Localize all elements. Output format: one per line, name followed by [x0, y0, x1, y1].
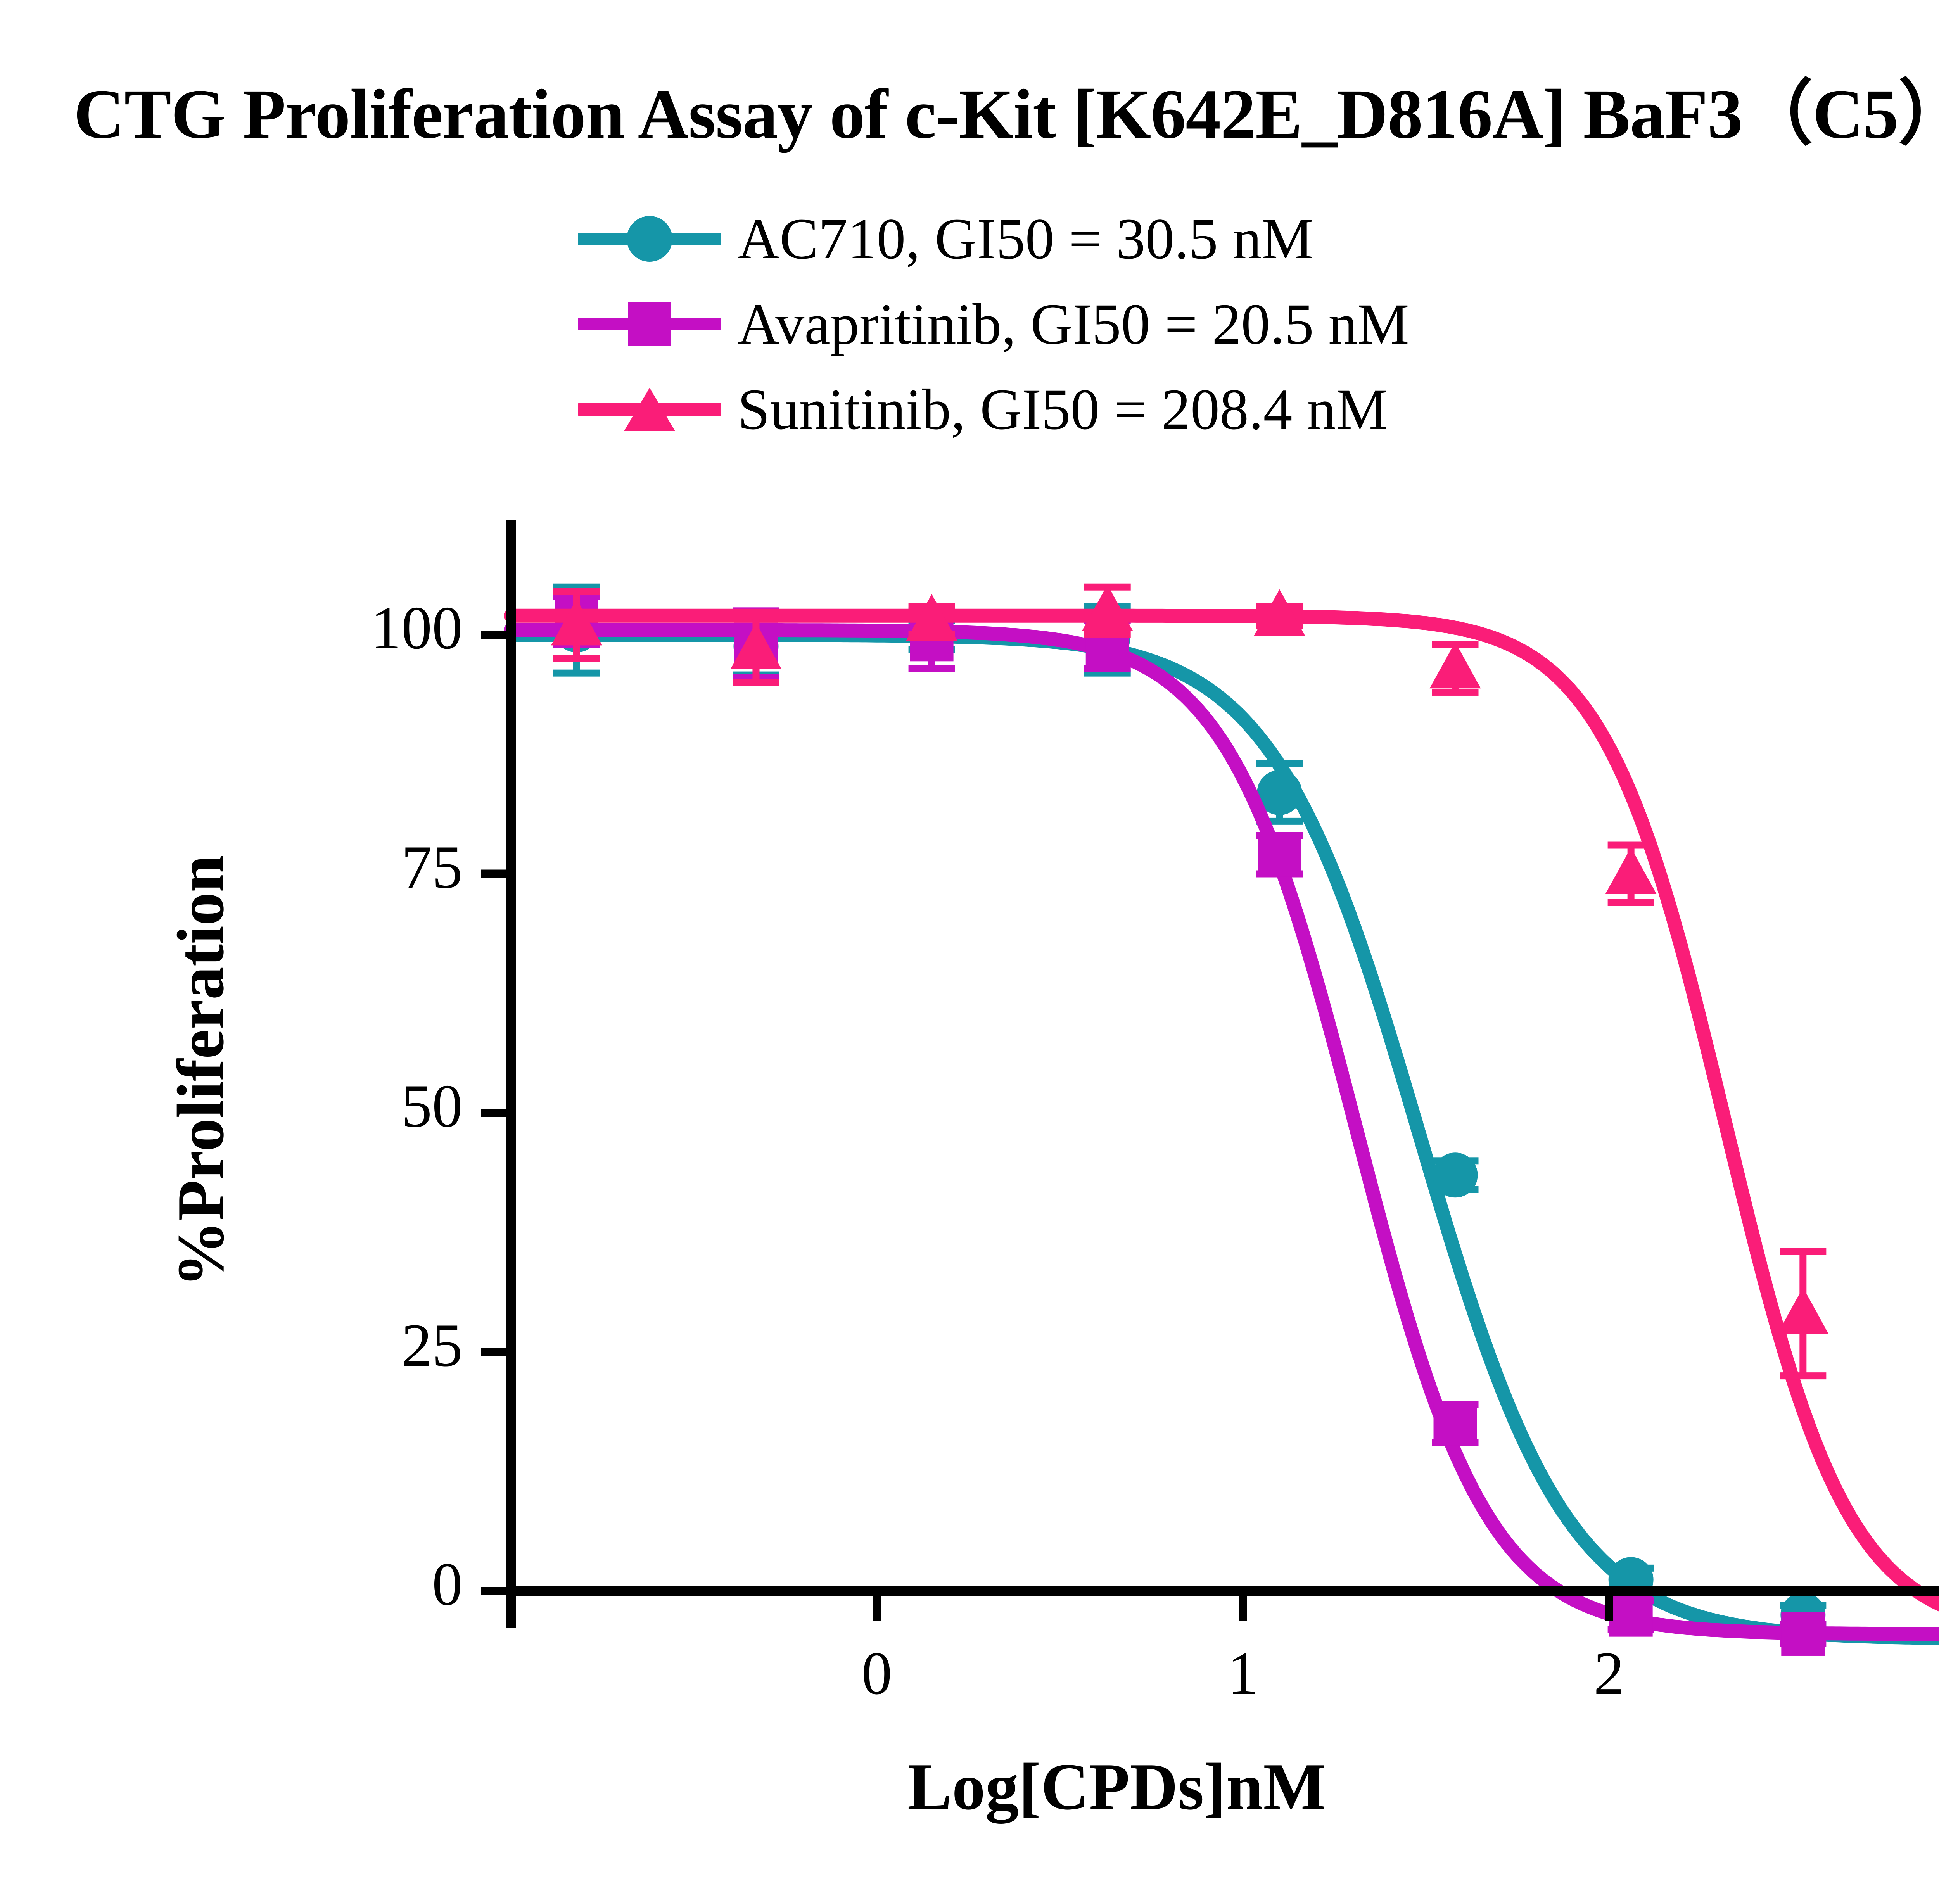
error-cap-upper [1256, 760, 1303, 767]
error-cap-lower [733, 679, 779, 686]
data-point[interactable] [1430, 642, 1481, 688]
plot-canvas [0, 0, 1939, 1904]
error-cap-lower [1432, 689, 1479, 696]
y-tick-label: 50 [300, 1071, 463, 1142]
x-tick-label: 2 [1531, 1638, 1687, 1709]
x-tick-label: 1 [1165, 1638, 1320, 1709]
fit-curve [511, 616, 1939, 1617]
y-tick [481, 1348, 506, 1356]
x-tick [873, 1596, 881, 1621]
data-point[interactable] [1609, 1593, 1653, 1637]
chart-root: CTG Proliferation Assay of c-Kit [K642E_… [0, 0, 1939, 1904]
y-tick-label: 100 [300, 593, 463, 663]
error-cap-lower [909, 665, 955, 672]
y-axis-line [506, 520, 516, 1628]
x-tick-label: 3 [1898, 1638, 1939, 1709]
data-point[interactable] [1781, 1612, 1825, 1656]
data-point[interactable] [1434, 1402, 1477, 1445]
data-point[interactable] [1258, 833, 1301, 876]
error-cap-upper [733, 612, 779, 619]
x-axis-label: Log[CPDs]nM [907, 1749, 1326, 1825]
x-axis-line [506, 1586, 1939, 1596]
y-tick [481, 1109, 506, 1117]
x-tick-label: 0 [799, 1638, 954, 1709]
error-cap-lower [553, 655, 600, 662]
y-tick [481, 1587, 506, 1595]
series-layer [511, 584, 1939, 1656]
y-tick-label: 25 [300, 1310, 463, 1381]
error-cap-lower [1608, 899, 1654, 906]
error-cap-lower [1084, 631, 1131, 638]
data-point[interactable] [1433, 1152, 1478, 1197]
error-cap-lower [1780, 1372, 1826, 1379]
data-point[interactable] [1777, 1287, 1828, 1334]
error-cap-upper [553, 588, 600, 595]
y-axis-label: %Proliferation [163, 855, 239, 1287]
y-tick [481, 870, 506, 878]
y-tick [481, 631, 506, 639]
y-tick-label: 75 [300, 832, 463, 903]
x-tick [1239, 1596, 1247, 1621]
error-cap-lower [553, 670, 600, 677]
y-tick-label: 0 [300, 1549, 463, 1620]
error-cap-upper [1780, 1248, 1826, 1255]
x-tick [1605, 1596, 1613, 1621]
